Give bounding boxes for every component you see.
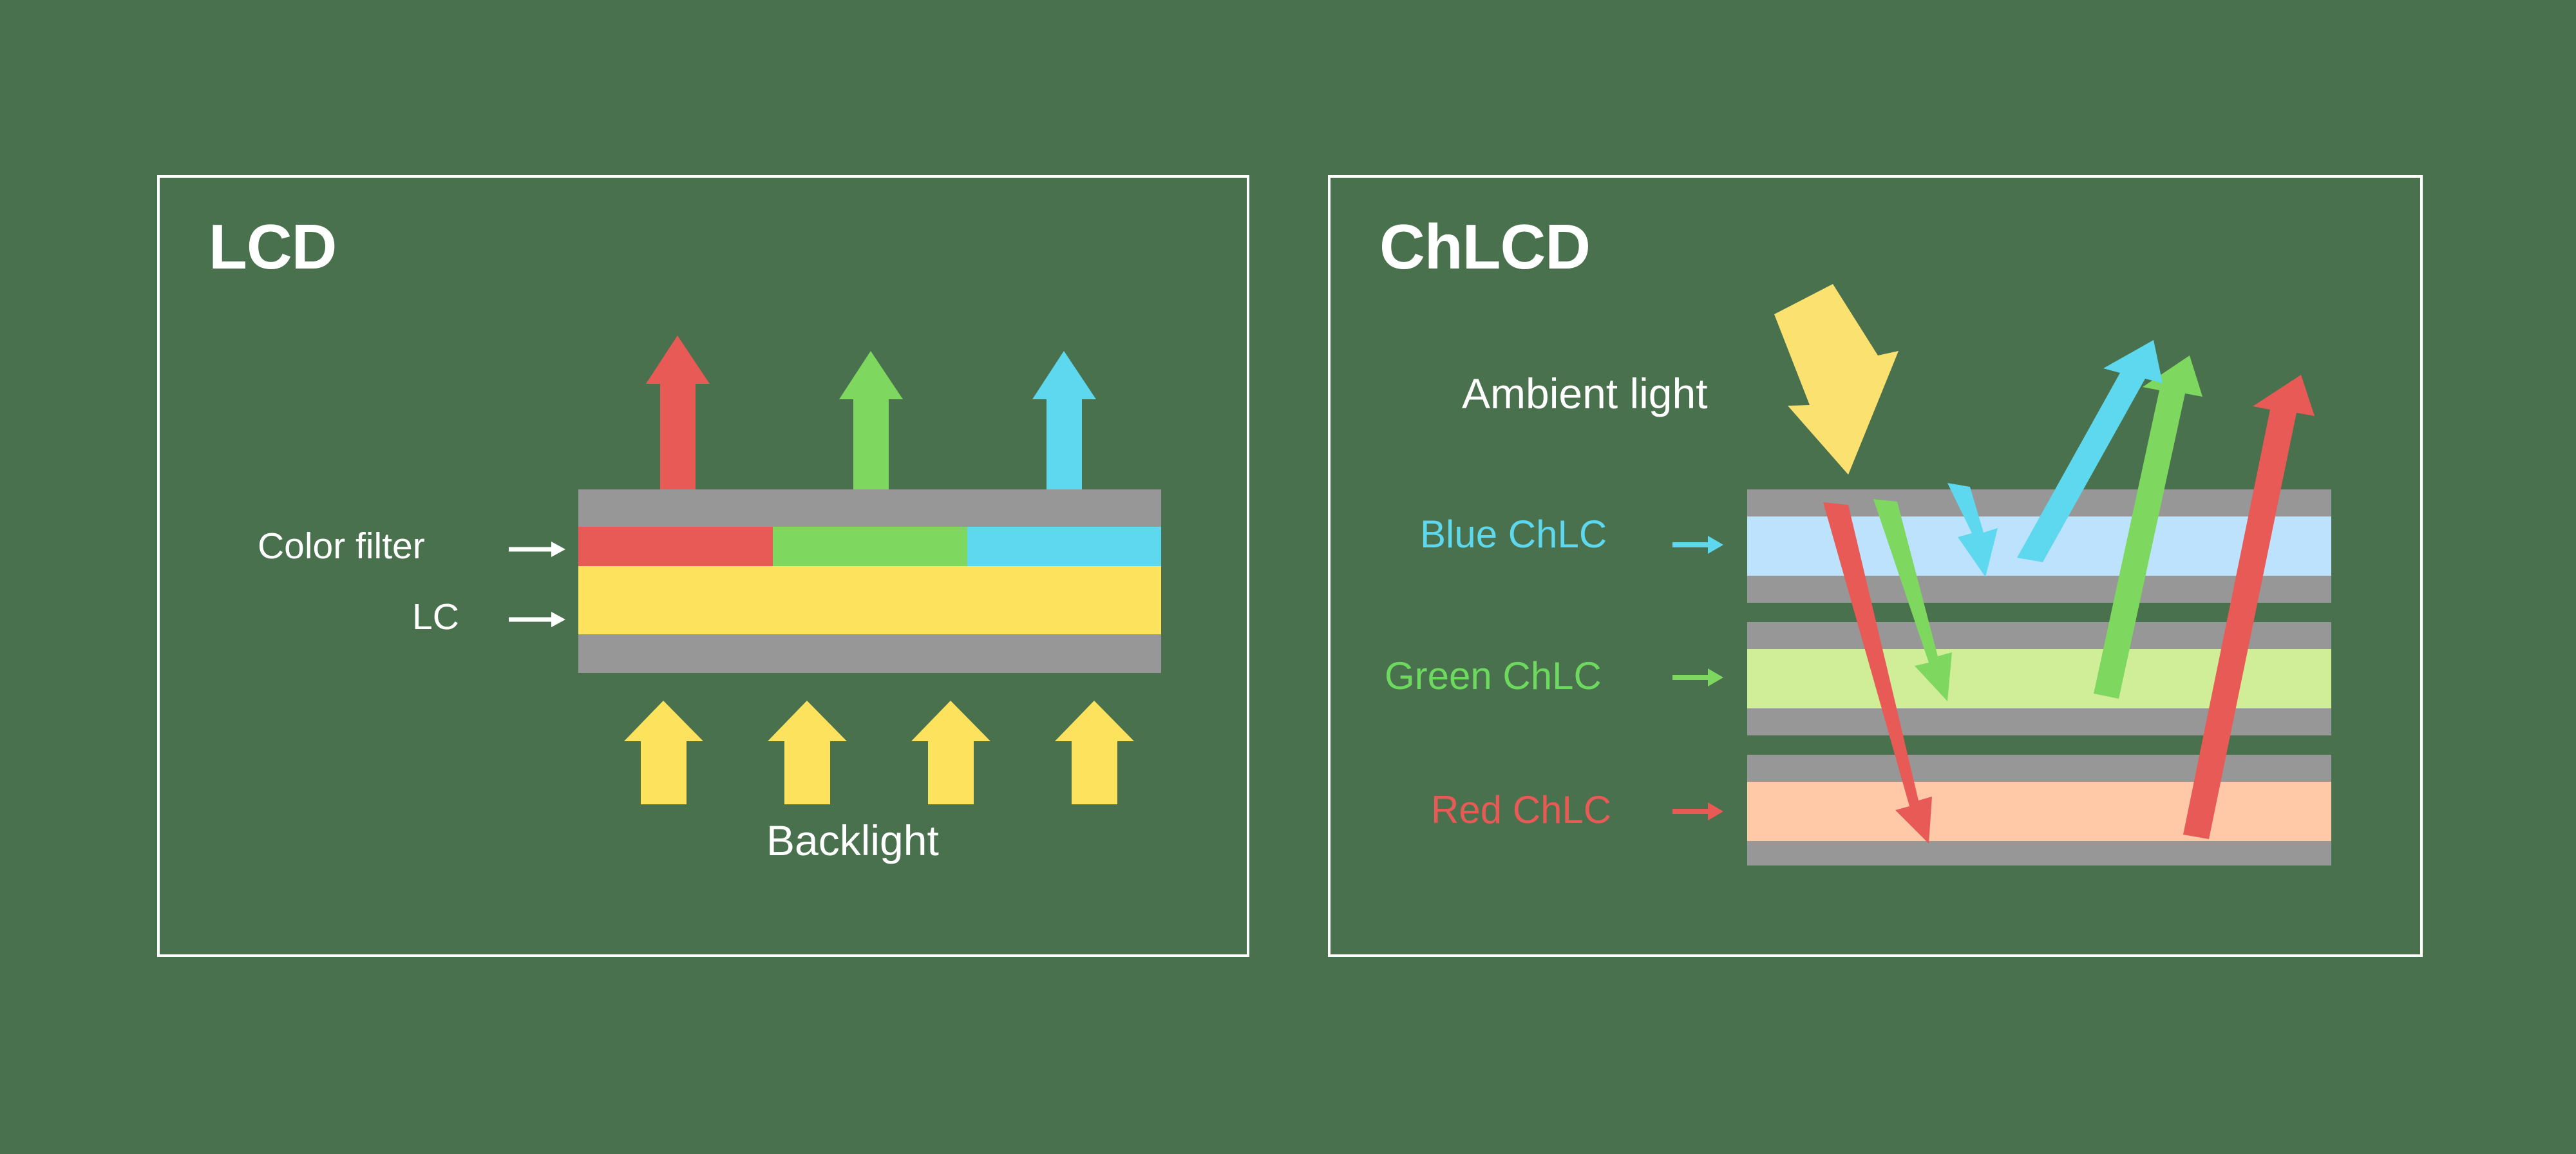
backlight-label: Backlight: [766, 819, 939, 862]
green-chlc-label: Green ChLC: [1385, 657, 1602, 695]
lcd-panel-title: LCD: [209, 215, 336, 278]
chlcd-blue-top-substrate: [1747, 489, 2331, 516]
lcd-bottom-substrate: [578, 634, 1161, 673]
lcd-color-filter-red: [578, 527, 773, 566]
color-filter-label: Color filter: [258, 528, 425, 565]
chlcd-red-top-substrate: [1747, 755, 2331, 782]
chlcd-green-layer: [1747, 649, 2331, 708]
chlcd-blue-layer: [1747, 516, 2331, 576]
chlcd-green-bottom-substrate: [1747, 708, 2331, 735]
blue-chlc-label: Blue ChLC: [1420, 515, 1607, 554]
chlcd-panel-title: ChLCD: [1379, 215, 1590, 278]
lcd-liquid-crystal-layer: [578, 566, 1161, 634]
lcd-color-filter-blue: [967, 527, 1161, 566]
chlcd-blue-bottom-substrate: [1747, 576, 2331, 603]
lcd-top-substrate: [578, 489, 1161, 527]
chlcd-green-top-substrate: [1747, 622, 2331, 649]
diagram-canvas: LCD Color filter LC: [0, 0, 2576, 1154]
chlcd-red-bottom-substrate: [1747, 841, 2331, 865]
lc-label: LC: [412, 599, 459, 636]
chlcd-red-layer: [1747, 782, 2331, 841]
ambient-light-label: Ambient light: [1462, 372, 1708, 415]
lcd-color-filter-green: [773, 527, 967, 566]
red-chlc-label: Red ChLC: [1431, 791, 1611, 829]
